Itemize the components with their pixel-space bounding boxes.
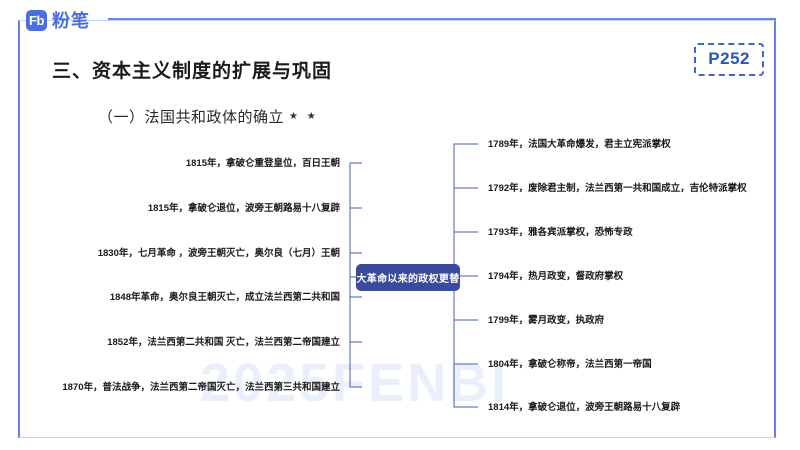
page-title: 三、资本主义制度的扩展与巩固 [52,56,332,83]
center-node[interactable]: 大革命以来的政权更替 [356,264,460,291]
right-branch-item-5[interactable]: 1799年，雾月政变，执政府 [488,316,604,326]
left-branch-item-2[interactable]: 1815年，拿破仑退位，波旁王朝路易十八复辟 [40,204,340,214]
right-branch-item-3[interactable]: 1793年，雅各宾派掌权，恐怖专政 [488,228,633,238]
left-branch-item-6[interactable]: 1870年，普法战争，法兰西第二帝国灭亡，法兰西第三共和国建立 [30,383,340,393]
slide-root: 2025FENBI Fb 粉笔 P252 三、资本主义制度的扩展与巩固 （一）法… [0,0,800,450]
right-branch-item-6[interactable]: 1804年，拿破仑称帝，法兰西第一帝国 [488,360,652,370]
right-branch-item-4[interactable]: 1794年，热月政变，督政府掌权 [488,272,623,282]
brand-logo: Fb 粉笔 [26,7,90,33]
page-number-badge: P252 [694,43,764,76]
page-subtitle-text: （一）法国共和政体的确立 [98,106,284,127]
left-branch-item-5[interactable]: 1852年，法兰西第二共和国 灭亡，法兰西第二帝国建立 [40,338,340,348]
header-rule [108,18,776,20]
right-branch-item-2[interactable]: 1792年，废除君主制，法兰西第一共和国成立，吉伦特派掌权 [488,184,747,194]
brand-logo-text: 粉笔 [52,7,90,33]
right-branch-item-1[interactable]: 1789年，法国大革命爆发，君主立宪派掌权 [488,140,671,150]
fenbi-logo-icon: Fb [26,10,47,31]
left-branch-item-4[interactable]: 1848年革命，奥尔良王朝灭亡，成立法兰西第二共和国 [40,293,340,303]
left-branch-item-1[interactable]: 1815年，拿破仑重登皇位，百日王朝 [40,159,340,169]
difficulty-stars-icon: ★ ★ [289,111,319,122]
page-subtitle: （一）法国共和政体的确立 ★ ★ [98,106,319,127]
right-branch-item-7[interactable]: 1814年，拿破仑退位，波旁王朝路易十八复辟 [488,403,680,413]
left-branch-item-3[interactable]: 1830年，七月革命 ，波旁王朝灭亡，奥尔良（七月）王朝 [40,249,340,259]
